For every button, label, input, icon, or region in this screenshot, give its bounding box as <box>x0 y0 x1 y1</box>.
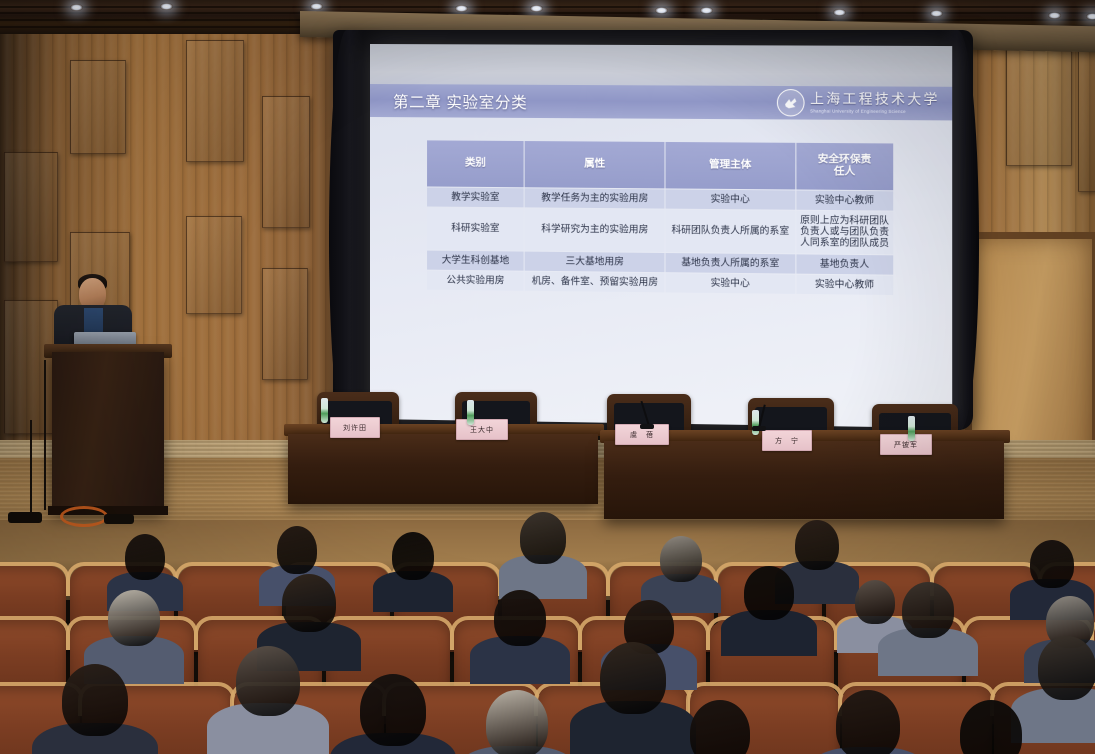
downlight-4 <box>530 5 543 12</box>
slide-title: 第二章 实验室分类 <box>393 90 527 113</box>
wall-acoustic-panel-0 <box>4 152 58 262</box>
wall-acoustic-panel-6 <box>186 216 242 314</box>
audience-person-head <box>836 690 900 754</box>
table-header-1: 属性 <box>525 141 665 188</box>
name-placard: 方 宁 <box>762 430 812 451</box>
audience-person-head <box>392 532 434 580</box>
table-cell-category: 教学实验室 <box>427 187 524 207</box>
podium <box>52 352 164 512</box>
university-name-zh: 上海工程技术大学 <box>810 92 940 106</box>
downlight-8 <box>930 10 943 17</box>
table-cell-category: 大学生科创基地 <box>427 250 524 270</box>
table-row: 教学实验室教学任务为主的实验用房实验中心实验中心教师 <box>427 187 893 210</box>
table-cell-attribute: 机房、备件室、预留实验用房 <box>525 271 665 292</box>
downlight-7 <box>833 9 846 16</box>
audience-person-head <box>125 534 165 580</box>
table-cell-manager: 科研团队负责人所属的系室 <box>666 210 795 253</box>
audience-person-head <box>744 566 794 620</box>
table-cell-responsible: 实验中心教师 <box>796 274 893 295</box>
slide-body: 类别属性管理主体安全环保责任人 教学实验室教学任务为主的实验用房实验中心实验中心… <box>370 117 952 428</box>
podium-cable <box>44 360 46 510</box>
wall-acoustic-panel-10 <box>1078 30 1095 192</box>
downlight-3 <box>455 5 468 12</box>
audience-person-head <box>520 512 566 564</box>
table-row: 科研实验室科学研究为主的实验用房科研团队负责人所属的系室原则上应为科研团队负责人… <box>427 208 893 254</box>
audience-person-head <box>277 526 317 574</box>
presentation-slide: 第二章 实验室分类 上海工程技术大学 Shanghai University o… <box>370 44 952 428</box>
table-body: 教学实验室教学任务为主的实验用房实验中心实验中心教师科研实验室科学研究为主的实验… <box>427 187 893 294</box>
audience-person-head <box>902 582 954 638</box>
table-cell-attribute: 科学研究为主的实验用房 <box>525 208 665 251</box>
water-bottle-2 <box>752 410 759 435</box>
audience-person-head <box>486 690 548 754</box>
audience-person-head <box>236 646 300 716</box>
name-placard: 王大中 <box>456 419 508 440</box>
table-cell-attribute: 教学任务为主的实验用房 <box>525 188 665 208</box>
microphone-base-2 <box>752 426 766 431</box>
audience-person-head <box>660 536 702 582</box>
audience-person-head <box>108 590 160 646</box>
university-name-en: Shanghai University of Engineering Scien… <box>810 108 940 114</box>
table-header-3: 安全环保责任人 <box>796 143 893 190</box>
audience-person-head <box>855 580 895 624</box>
water-bottle-0 <box>321 398 328 423</box>
projection-screen: 第二章 实验室分类 上海工程技术大学 Shanghai University o… <box>333 30 973 430</box>
slide-top-band <box>370 44 952 87</box>
audience-person-head <box>600 642 666 714</box>
audience-person-head <box>494 590 546 646</box>
wall-acoustic-panel-5 <box>186 40 244 162</box>
downlight-1 <box>160 3 173 10</box>
table-cell-category: 公共实验用房 <box>427 270 524 290</box>
wall-acoustic-panel-3 <box>70 60 126 154</box>
downlight-5 <box>655 7 668 14</box>
water-bottle-3 <box>908 416 915 441</box>
table-cell-manager: 实验中心 <box>666 189 795 209</box>
university-logo: 上海工程技术大学 Shanghai University of Engineer… <box>777 89 939 117</box>
table-cell-manager: 基地负责人所属的系室 <box>666 253 795 274</box>
wall-acoustic-panel-7 <box>262 96 310 228</box>
floor-equipment-2 <box>104 514 134 524</box>
audience-person-head <box>1030 540 1074 588</box>
microphone-base-1 <box>640 424 654 429</box>
audience-person-head <box>282 574 336 632</box>
table-cell-responsible: 原则上应为科研团队负责人或与团队负责人同系室的团队成员 <box>796 211 893 254</box>
audience-person-head <box>62 664 128 736</box>
downlight-0 <box>70 4 83 11</box>
orange-cable-coil <box>60 506 108 527</box>
table-header-2: 管理主体 <box>666 142 795 189</box>
downlight-9 <box>1048 12 1061 19</box>
classification-table: 类别属性管理主体安全环保责任人 教学实验室教学任务为主的实验用房实验中心实验中心… <box>426 139 894 295</box>
wall-acoustic-panel-8 <box>262 268 308 380</box>
table-header-0: 类别 <box>427 140 524 187</box>
floor-cable <box>30 420 32 515</box>
downlight-10 <box>1086 13 1095 20</box>
audience-person-head <box>795 520 839 570</box>
name-placard: 严铍军 <box>880 434 932 455</box>
screen-edge-left <box>329 30 363 430</box>
audience-person-head <box>360 674 426 746</box>
floor-equipment <box>8 512 42 523</box>
head-table-right[interactable] <box>604 441 1004 519</box>
downlight-6 <box>700 7 713 14</box>
wall-acoustic-panel-1 <box>4 300 58 434</box>
table-row: 公共实验用房机房、备件室、预留实验用房实验中心实验中心教师 <box>427 270 893 295</box>
downlight-2 <box>310 3 323 10</box>
name-placard: 刘许田 <box>330 417 380 438</box>
audience-person-head <box>1038 636 1095 700</box>
table-cell-category: 科研实验室 <box>427 208 524 250</box>
table-cell-responsible: 实验中心教师 <box>796 190 893 210</box>
university-crest-icon <box>777 89 805 117</box>
table-cell-attribute: 三大基地用房 <box>525 251 665 272</box>
head-table-left[interactable] <box>288 434 598 504</box>
table-cell-manager: 实验中心 <box>666 273 795 294</box>
water-bottle-1 <box>467 400 474 425</box>
lecture-hall-photo: 第二章 实验室分类 上海工程技术大学 Shanghai University o… <box>0 0 1095 754</box>
table-header-row: 类别属性管理主体安全环保责任人 <box>427 140 893 190</box>
table-cell-responsible: 基地负责人 <box>796 254 893 274</box>
